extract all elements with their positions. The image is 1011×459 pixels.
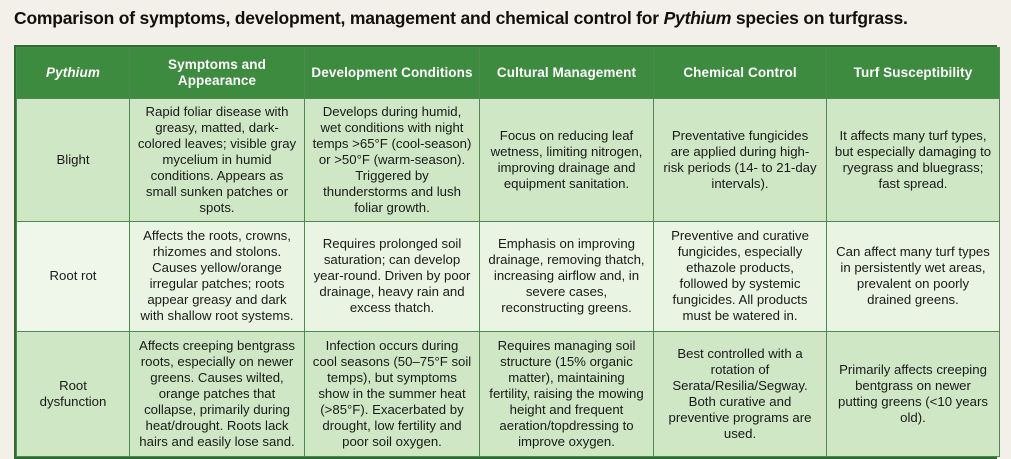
column-header-symptoms: Symptoms and Appearance [130, 48, 305, 99]
cell-symptoms: Affects the roots, crowns, rhizomes and … [130, 221, 305, 331]
cell-species: Root dysfunction [17, 331, 130, 456]
figure-root: Comparison of symptoms, development, man… [0, 0, 1011, 453]
cell-susceptibility: Primarily affects creeping bentgrass on … [827, 331, 1000, 456]
comparison-table: Pythium Symptoms and Appearance Developm… [16, 47, 1000, 457]
cell-species: Root rot [17, 221, 130, 331]
cell-cultural: Emphasis on improving drainage, removing… [480, 221, 654, 331]
comparison-table-container: Pythium Symptoms and Appearance Developm… [14, 45, 997, 459]
header-row: Pythium Symptoms and Appearance Developm… [17, 48, 1000, 99]
title-text-after: species on turfgrass. [731, 8, 908, 28]
column-header-pythium: Pythium [17, 48, 130, 99]
cell-development: Develops during humid, wet conditions wi… [305, 99, 480, 222]
cell-cultural: Focus on reducing leaf wetness, limiting… [480, 99, 654, 222]
column-header-development: Development Conditions [305, 48, 480, 99]
table-row: Root dysfunction Affects creeping bentgr… [17, 331, 1000, 456]
column-header-turf-susceptibility: Turf Susceptibility [827, 48, 1000, 99]
cell-symptoms: Rapid foliar disease with greasy, matted… [130, 99, 305, 222]
table-row: Root rot Affects the roots, crowns, rhiz… [17, 221, 1000, 331]
title-species-italic: Pythium [664, 8, 732, 28]
table-body: Blight Rapid foliar disease with greasy,… [17, 99, 1000, 457]
cell-cultural: Requires managing soil structure (15% or… [480, 331, 654, 456]
cell-species: Blight [17, 99, 130, 222]
cell-development: Infection occurs during cool seasons (50… [305, 331, 480, 456]
figure-title: Comparison of symptoms, development, man… [14, 8, 1004, 28]
cell-chemical: Best controlled with a rotation of Serat… [654, 331, 827, 456]
column-header-cultural-management: Cultural Management [480, 48, 654, 99]
column-header-chemical-control: Chemical Control [654, 48, 827, 99]
cell-susceptibility: It affects many turf types, but especial… [827, 99, 1000, 222]
cell-development: Requires prolonged soil saturation; can … [305, 221, 480, 331]
table-row: Blight Rapid foliar disease with greasy,… [17, 99, 1000, 222]
cell-susceptibility: Can affect many turf types in persistent… [827, 221, 1000, 331]
title-text-before: Comparison of symptoms, development, man… [14, 8, 664, 28]
cell-chemical: Preventive and curative fungicides, espe… [654, 221, 827, 331]
cell-symptoms: Affects creeping bentgrass roots, especi… [130, 331, 305, 456]
cell-chemical: Preventative fungicides are applied duri… [654, 99, 827, 222]
table-header: Pythium Symptoms and Appearance Developm… [17, 48, 1000, 99]
